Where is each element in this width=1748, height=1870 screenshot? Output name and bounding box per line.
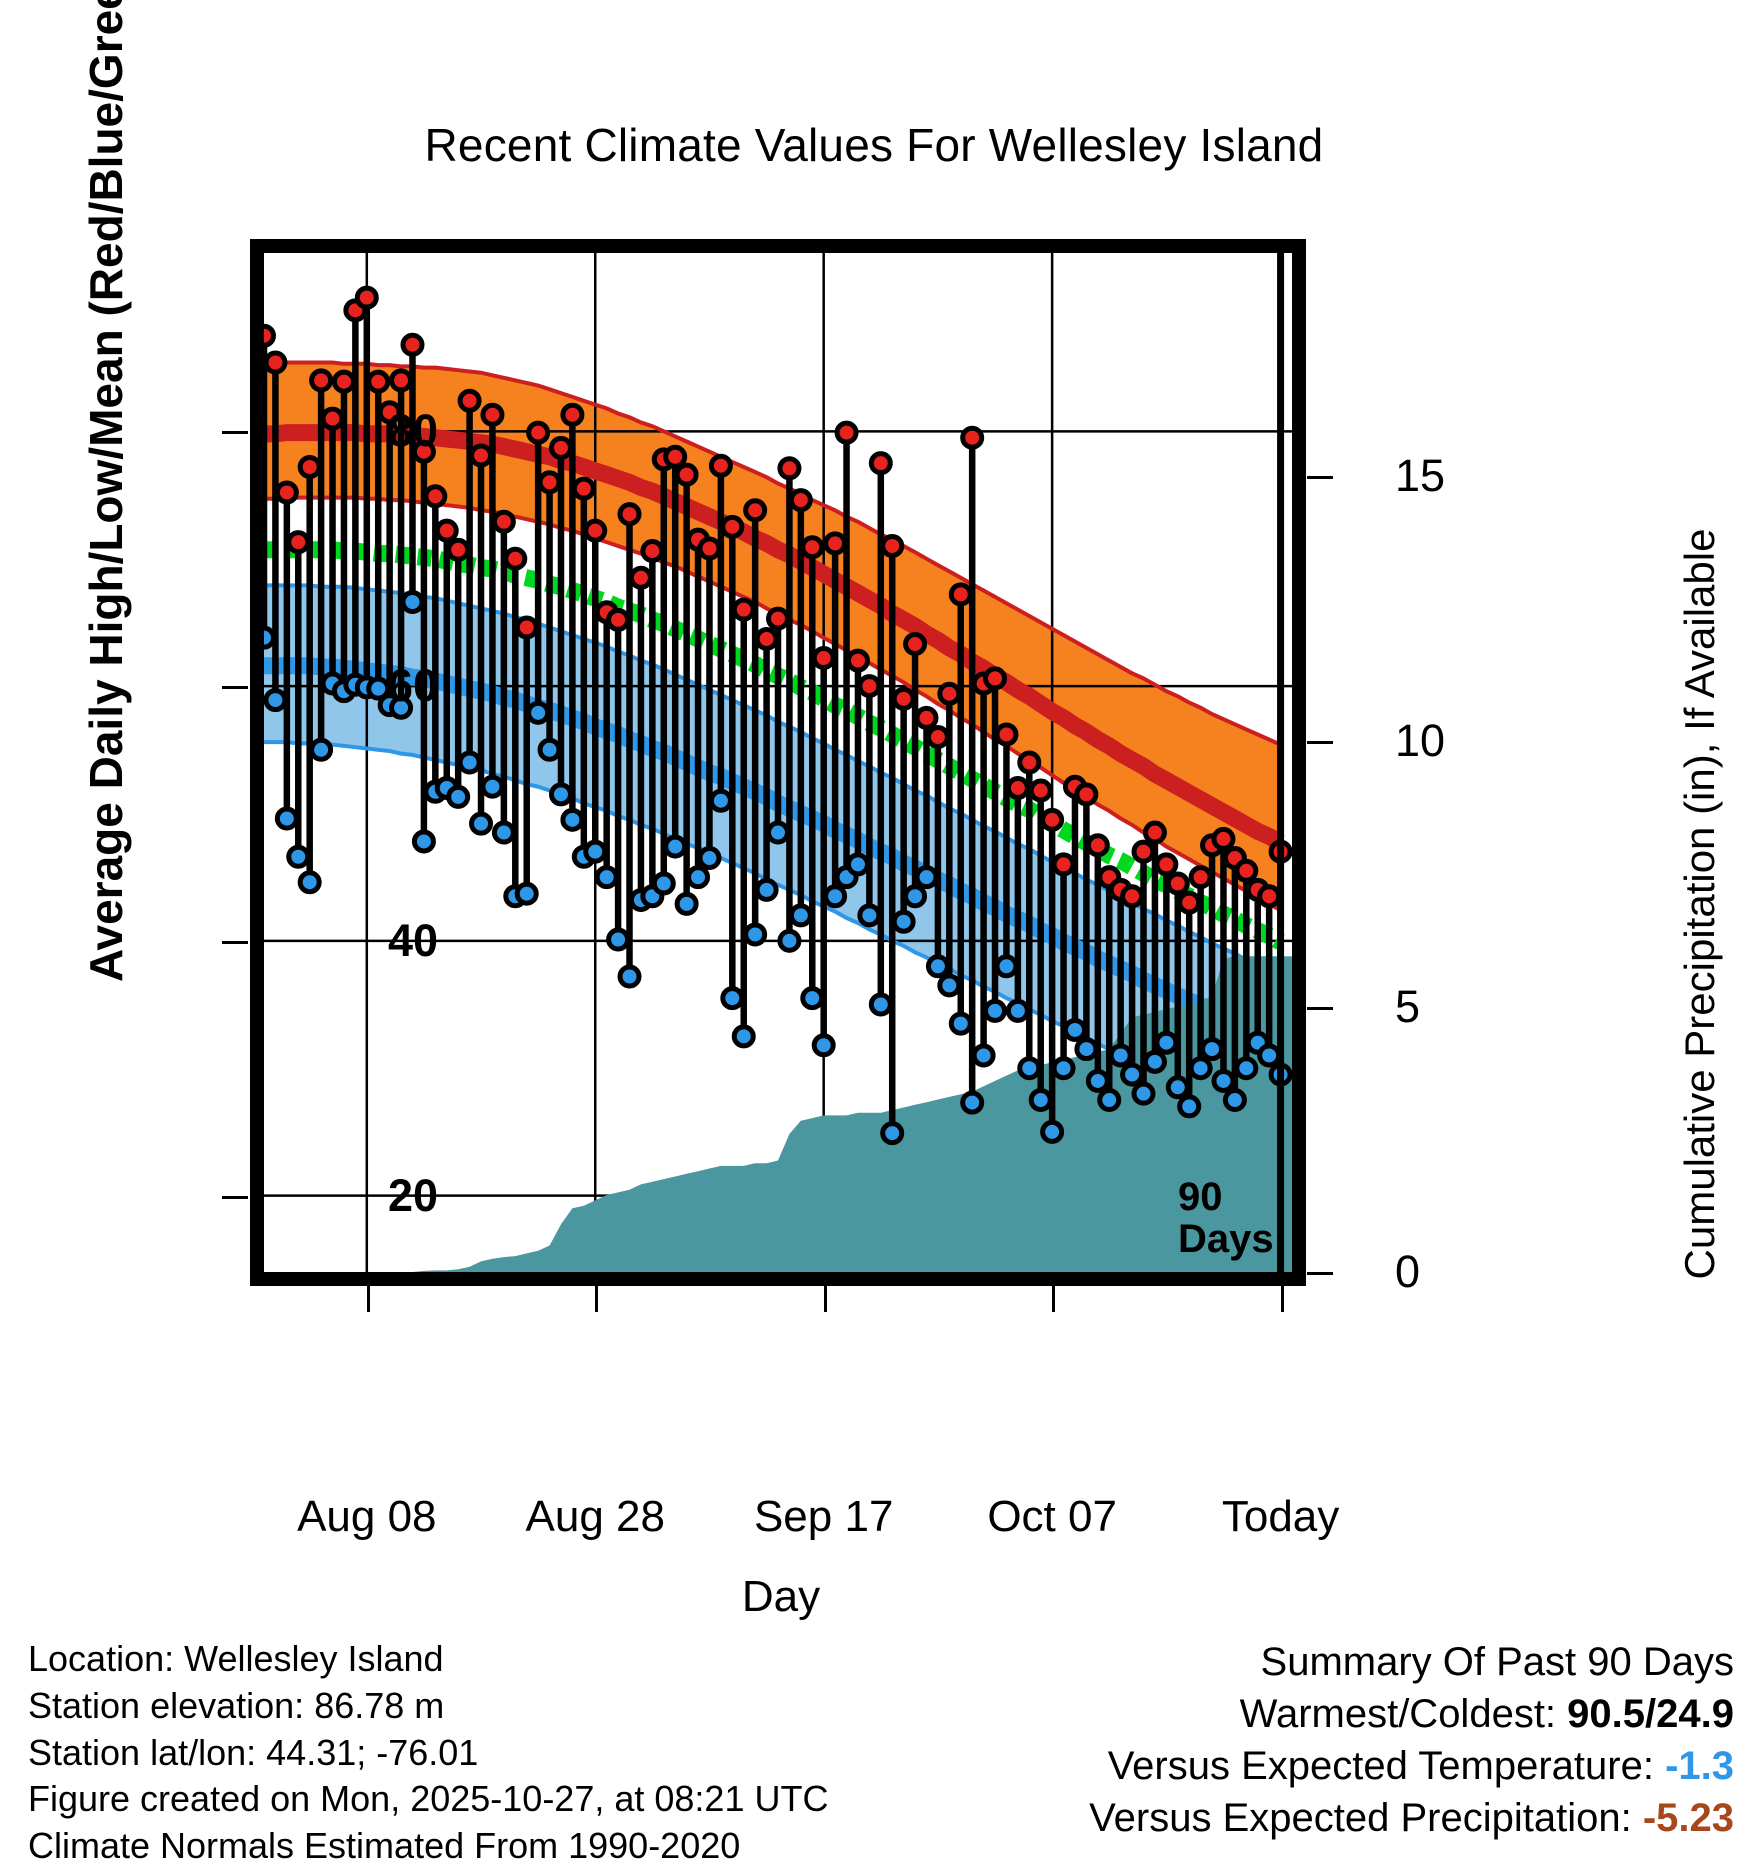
- daily-high-marker: [403, 335, 422, 354]
- y-axis-tick-label: 40: [388, 915, 438, 967]
- x-axis-tick: [367, 1286, 370, 1312]
- x-axis-tick-label: Today: [1222, 1492, 1339, 1542]
- daily-low-marker: [1168, 1078, 1187, 1097]
- daily-high-marker: [860, 677, 879, 696]
- daily-low-marker: [289, 847, 308, 866]
- daily-high-marker: [803, 538, 822, 557]
- daily-low-marker: [1100, 1091, 1119, 1110]
- x-axis-tick-label: Aug 08: [297, 1492, 436, 1542]
- y-right-axis-tick: [1307, 476, 1333, 479]
- daily-high-marker: [540, 473, 559, 492]
- daily-high-marker: [928, 728, 947, 747]
- daily-low-marker: [1008, 1001, 1027, 1020]
- daily-low-marker: [871, 995, 890, 1014]
- x-axis-tick-label: Sep 17: [754, 1492, 893, 1542]
- daily-high-marker: [1020, 753, 1039, 772]
- daily-low-marker: [1043, 1122, 1062, 1141]
- daily-high-marker: [264, 326, 274, 345]
- y-axis-title: Average Daily High/Low/Mean (Red/Blue/Gr…: [79, 82, 133, 982]
- daily-high-marker: [300, 457, 319, 476]
- y-right-axis-tick-label: 0: [1395, 1246, 1420, 1298]
- daily-high-marker: [506, 549, 525, 568]
- today-annotation-line2: Days: [1178, 1218, 1274, 1260]
- y-axis-tick-label: 20: [388, 1170, 438, 1222]
- daily-low-marker: [963, 1093, 982, 1112]
- daily-low-marker: [483, 777, 502, 796]
- daily-high-marker: [472, 446, 491, 465]
- daily-low-marker: [460, 753, 479, 772]
- daily-high-marker: [426, 487, 445, 506]
- daily-low-marker: [551, 785, 570, 804]
- temp-anomaly-label: Versus Expected Temperature:: [1108, 1744, 1654, 1788]
- meta-location: Location: Wellesley Island: [28, 1636, 828, 1683]
- daily-high-marker: [723, 517, 742, 536]
- daily-high-marker: [1237, 861, 1256, 880]
- x-axis-tick: [1281, 1286, 1284, 1312]
- daily-high-marker: [1031, 781, 1050, 800]
- daily-low-marker: [986, 1001, 1005, 1020]
- daily-high-marker: [883, 536, 902, 555]
- daily-high-marker: [666, 447, 685, 466]
- daily-high-marker: [1191, 868, 1210, 887]
- daily-low-marker: [1145, 1052, 1164, 1071]
- daily-low-marker: [620, 967, 639, 986]
- daily-low-marker: [780, 931, 799, 950]
- daily-low-marker: [734, 1027, 753, 1046]
- x-axis-tick-label: Aug 28: [526, 1492, 665, 1542]
- daily-low-marker: [906, 887, 925, 906]
- daily-high-marker: [791, 491, 810, 510]
- daily-high-marker: [917, 708, 936, 727]
- daily-high-marker: [369, 372, 388, 391]
- daily-high-marker: [277, 483, 296, 502]
- y-right-axis-tick-label: 15: [1395, 450, 1445, 502]
- daily-low-marker: [1260, 1046, 1279, 1065]
- daily-high-marker: [700, 539, 719, 558]
- climate-plot: [250, 239, 1306, 1286]
- daily-high-marker: [814, 649, 833, 668]
- daily-high-marker: [906, 635, 925, 654]
- daily-low-marker: [700, 849, 719, 868]
- daily-low-marker: [791, 906, 810, 925]
- daily-low-marker: [586, 842, 605, 861]
- summary-panel: Summary Of Past 90 Days Warmest/Coldest:…: [1089, 1636, 1734, 1844]
- daily-low-marker: [666, 837, 685, 856]
- y-right-axis-tick-label: 5: [1395, 981, 1420, 1033]
- daily-high-marker: [963, 428, 982, 447]
- y-axis-tick: [222, 941, 248, 944]
- daily-high-marker: [1088, 836, 1107, 855]
- daily-high-marker: [837, 423, 856, 442]
- daily-low-marker: [860, 906, 879, 925]
- daily-high-marker: [357, 288, 376, 307]
- daily-high-marker: [631, 568, 650, 587]
- daily-high-marker: [266, 353, 285, 372]
- today-annotation-line1: 90: [1178, 1176, 1274, 1218]
- daily-high-marker: [894, 689, 913, 708]
- daily-high-marker: [769, 609, 788, 628]
- daily-high-marker: [757, 629, 776, 648]
- daily-low-marker: [540, 740, 559, 759]
- daily-low-marker: [654, 874, 673, 893]
- daily-low-marker: [1088, 1071, 1107, 1090]
- daily-low-marker: [1237, 1059, 1256, 1078]
- precip-anomaly-label: Versus Expected Precipitation:: [1089, 1796, 1632, 1840]
- warmest-coldest-value: 90.5/24.9: [1567, 1692, 1734, 1736]
- daily-low-marker: [689, 868, 708, 887]
- daily-low-marker: [563, 810, 582, 829]
- daily-high-marker: [1180, 893, 1199, 912]
- daily-low-marker: [917, 868, 936, 887]
- daily-low-marker: [769, 823, 788, 842]
- daily-high-marker: [334, 372, 353, 391]
- daily-high-marker: [609, 610, 628, 629]
- daily-low-marker: [1180, 1097, 1199, 1116]
- warmest-coldest-label: Warmest/Coldest:: [1240, 1692, 1556, 1736]
- daily-high-marker: [940, 684, 959, 703]
- daily-low-marker: [677, 894, 696, 913]
- daily-low-marker: [266, 691, 285, 710]
- daily-high-marker: [1077, 785, 1096, 804]
- daily-high-marker: [563, 405, 582, 424]
- daily-high-marker: [1157, 855, 1176, 874]
- y-right-axis-tick: [1307, 1272, 1333, 1275]
- daily-low-marker: [746, 925, 765, 944]
- daily-low-marker: [1123, 1065, 1142, 1084]
- summary-warmest-coldest: Warmest/Coldest: 90.5/24.9: [1089, 1688, 1734, 1740]
- daily-low-marker: [723, 989, 742, 1008]
- today-annotation: 90 Days: [1178, 1176, 1274, 1261]
- temp-anomaly-value: -1.3: [1665, 1744, 1734, 1788]
- daily-low-marker: [1065, 1020, 1084, 1039]
- daily-high-marker: [529, 423, 548, 442]
- page-title: Recent Climate Values For Wellesley Isla…: [0, 118, 1748, 172]
- daily-low-marker: [974, 1046, 993, 1065]
- daily-high-marker: [312, 371, 331, 390]
- daily-low-marker: [264, 628, 274, 647]
- y-right-axis-tick-label: 10: [1395, 715, 1445, 767]
- daily-high-marker: [620, 505, 639, 524]
- daily-high-marker: [848, 651, 867, 670]
- daily-low-marker: [609, 930, 628, 949]
- daily-low-marker: [1157, 1033, 1176, 1052]
- daily-high-marker: [1134, 842, 1153, 861]
- meta-created: Figure created on Mon, 2025-10-27, at 08…: [28, 1776, 828, 1823]
- daily-low-marker: [757, 880, 776, 899]
- daily-high-marker: [734, 600, 753, 619]
- y-axis-tick-label: 60: [388, 660, 438, 712]
- daily-low-marker: [848, 855, 867, 874]
- x-axis-tick: [824, 1286, 827, 1312]
- daily-low-marker: [449, 787, 468, 806]
- daily-high-marker: [871, 454, 890, 473]
- daily-low-marker: [494, 823, 513, 842]
- daily-low-marker: [1214, 1071, 1233, 1090]
- x-axis-tick: [1052, 1286, 1055, 1312]
- y-right-axis-tick: [1307, 1007, 1333, 1010]
- daily-high-marker: [437, 521, 456, 540]
- daily-high-marker: [449, 540, 468, 559]
- precip-anomaly-value: -5.23: [1643, 1796, 1734, 1840]
- daily-low-marker: [597, 868, 616, 887]
- summary-precip-anomaly: Versus Expected Precipitation: -5.23: [1089, 1792, 1734, 1844]
- daily-high-marker: [986, 669, 1005, 688]
- daily-low-marker: [883, 1124, 902, 1143]
- daily-low-marker: [1077, 1040, 1096, 1059]
- daily-high-marker: [1123, 887, 1142, 906]
- daily-high-marker: [1168, 874, 1187, 893]
- daily-low-marker: [940, 976, 959, 995]
- daily-low-marker: [529, 703, 548, 722]
- daily-high-marker: [1008, 778, 1027, 797]
- daily-low-marker: [1225, 1091, 1244, 1110]
- y-right-axis-tick: [1307, 741, 1333, 744]
- y-axis-tick-label: 80: [388, 405, 438, 457]
- daily-low-marker: [1031, 1091, 1050, 1110]
- daily-low-marker: [894, 912, 913, 931]
- daily-high-marker: [1260, 887, 1279, 906]
- y-axis-tick: [222, 1196, 248, 1199]
- y-right-axis-title: Cumulative Precipitation (in), If Availa…: [1676, 404, 1724, 1404]
- x-axis-tick: [595, 1286, 598, 1312]
- daily-high-marker: [677, 465, 696, 484]
- daily-high-marker: [826, 534, 845, 553]
- daily-low-marker: [1020, 1059, 1039, 1078]
- daily-low-marker: [1203, 1040, 1222, 1059]
- y-axis-tick: [222, 431, 248, 434]
- daily-low-marker: [403, 593, 422, 612]
- daily-high-marker: [574, 479, 593, 498]
- daily-low-marker: [826, 887, 845, 906]
- daily-high-marker: [951, 585, 970, 604]
- daily-high-marker: [392, 371, 411, 390]
- daily-high-marker: [517, 618, 536, 637]
- daily-high-marker: [1214, 829, 1233, 848]
- daily-low-marker: [1111, 1046, 1130, 1065]
- daily-high-marker: [483, 405, 502, 424]
- daily-low-marker: [814, 1036, 833, 1055]
- daily-high-marker: [1054, 855, 1073, 874]
- meta-normals: Climate Normals Estimated From 1990-2020: [28, 1823, 828, 1870]
- summary-temp-anomaly: Versus Expected Temperature: -1.3: [1089, 1740, 1734, 1792]
- x-axis-tick-label: Oct 07: [987, 1492, 1117, 1542]
- meta-elevation: Station elevation: 86.78 m: [28, 1683, 828, 1730]
- daily-low-marker: [711, 791, 730, 810]
- y-axis-tick: [222, 686, 248, 689]
- daily-high-marker: [289, 533, 308, 552]
- daily-low-marker: [414, 832, 433, 851]
- daily-high-marker: [551, 438, 570, 457]
- meta-latlon: Station lat/lon: 44.31; -76.01: [28, 1730, 828, 1777]
- daily-high-marker: [494, 512, 513, 531]
- daily-high-marker: [997, 725, 1016, 744]
- daily-low-marker: [1191, 1059, 1210, 1078]
- daily-low-marker: [1054, 1059, 1073, 1078]
- daily-low-marker: [928, 957, 947, 976]
- figure-metadata: Location: Wellesley Island Station eleva…: [28, 1636, 828, 1870]
- daily-low-marker: [803, 989, 822, 1008]
- daily-low-marker: [300, 873, 319, 892]
- summary-heading: Summary Of Past 90 Days: [1089, 1636, 1734, 1688]
- daily-high-marker: [1145, 823, 1164, 842]
- daily-low-marker: [472, 814, 491, 833]
- x-axis-title: Day: [0, 1572, 1562, 1622]
- daily-low-marker: [277, 809, 296, 828]
- daily-low-marker: [1134, 1084, 1153, 1103]
- daily-high-marker: [460, 391, 479, 410]
- daily-high-marker: [746, 501, 765, 520]
- daily-high-marker: [586, 521, 605, 540]
- daily-high-marker: [780, 459, 799, 478]
- daily-low-marker: [312, 740, 331, 759]
- daily-high-marker: [323, 409, 342, 428]
- daily-low-marker: [997, 957, 1016, 976]
- daily-low-marker: [517, 884, 536, 903]
- daily-low-marker: [951, 1014, 970, 1033]
- daily-high-marker: [1043, 810, 1062, 829]
- daily-high-marker: [711, 456, 730, 475]
- daily-high-marker: [643, 542, 662, 561]
